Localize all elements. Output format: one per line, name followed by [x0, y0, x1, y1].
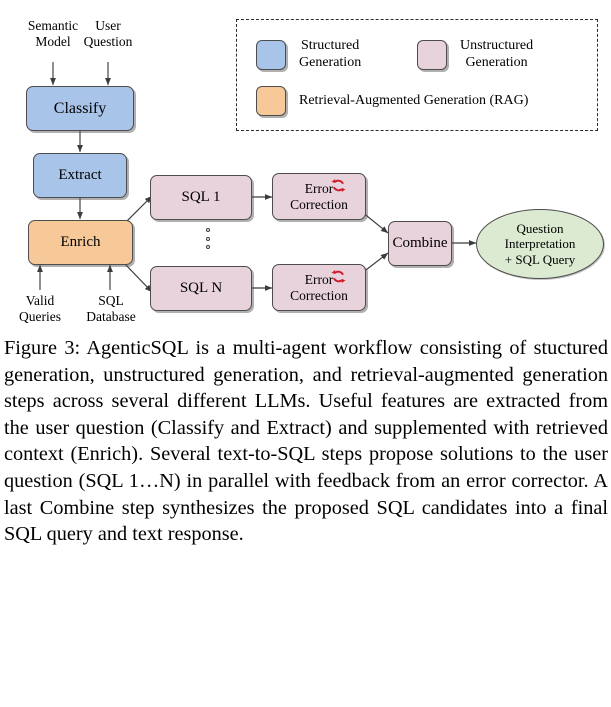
node-extract-label: Extract	[58, 167, 101, 184]
legend-label-unstructured: Unstructured Generation	[460, 38, 533, 71]
vertical-ellipsis	[203, 228, 213, 249]
refresh-error-icon	[331, 178, 346, 193]
node-enrich-label: Enrich	[61, 234, 101, 251]
legend-label-rag: Retrieval-Augmented Generation (RAG)	[299, 93, 528, 110]
node-combine[interactable]: Combine	[388, 221, 452, 266]
input-label-sql-database: SQL Database	[72, 293, 150, 324]
legend-item-structured-generation: Structured Generation	[256, 38, 361, 71]
node-output[interactable]: Question Interpretation + SQL Query	[476, 209, 604, 279]
legend-swatch-unstructured-icon	[417, 40, 447, 70]
node-sql-n-label: SQL N	[180, 280, 222, 297]
node-sql-1-label: SQL 1	[181, 189, 220, 206]
input-label-valid-queries: Valid Queries	[3, 293, 77, 324]
legend-item-unstructured-generation: Unstructured Generation	[417, 38, 533, 71]
node-sql-n[interactable]: SQL N	[150, 266, 252, 311]
input-label-sql-database-text: SQL Database	[72, 293, 150, 324]
node-enrich[interactable]: Enrich	[28, 220, 133, 265]
legend-swatch-structured-icon	[256, 40, 286, 70]
node-error-correction-top[interactable]: Error Correction	[272, 173, 366, 220]
ellipsis-dot	[206, 245, 210, 249]
input-label-valid-queries-text: Valid Queries	[3, 293, 77, 324]
node-extract[interactable]: Extract	[33, 153, 127, 198]
refresh-error-icon	[331, 269, 346, 284]
node-classify-label: Classify	[54, 100, 106, 118]
node-error-correction-bottom[interactable]: Error Correction	[272, 264, 366, 311]
legend-label-structured: Structured Generation	[299, 38, 361, 71]
ellipsis-dot	[206, 237, 210, 241]
legend-swatch-rag-icon	[256, 86, 286, 116]
ellipsis-dot	[206, 228, 210, 232]
node-output-label: Question Interpretation + SQL Query	[505, 221, 576, 268]
node-sql-1[interactable]: SQL 1	[150, 175, 252, 220]
input-label-user-question: User Question	[72, 18, 144, 49]
figure-caption: Figure 3: AgenticSQL is a multi-agent wo…	[4, 335, 608, 548]
figure-diagram: Semantic Model User Question Valid Queri…	[0, 0, 611, 330]
node-classify[interactable]: Classify	[26, 86, 134, 131]
legend-panel: Structured Generation Unstructured Gener…	[236, 19, 598, 131]
legend-item-rag: Retrieval-Augmented Generation (RAG)	[256, 86, 528, 116]
input-label-user-question-text: User Question	[72, 18, 144, 49]
node-combine-label: Combine	[393, 235, 448, 252]
